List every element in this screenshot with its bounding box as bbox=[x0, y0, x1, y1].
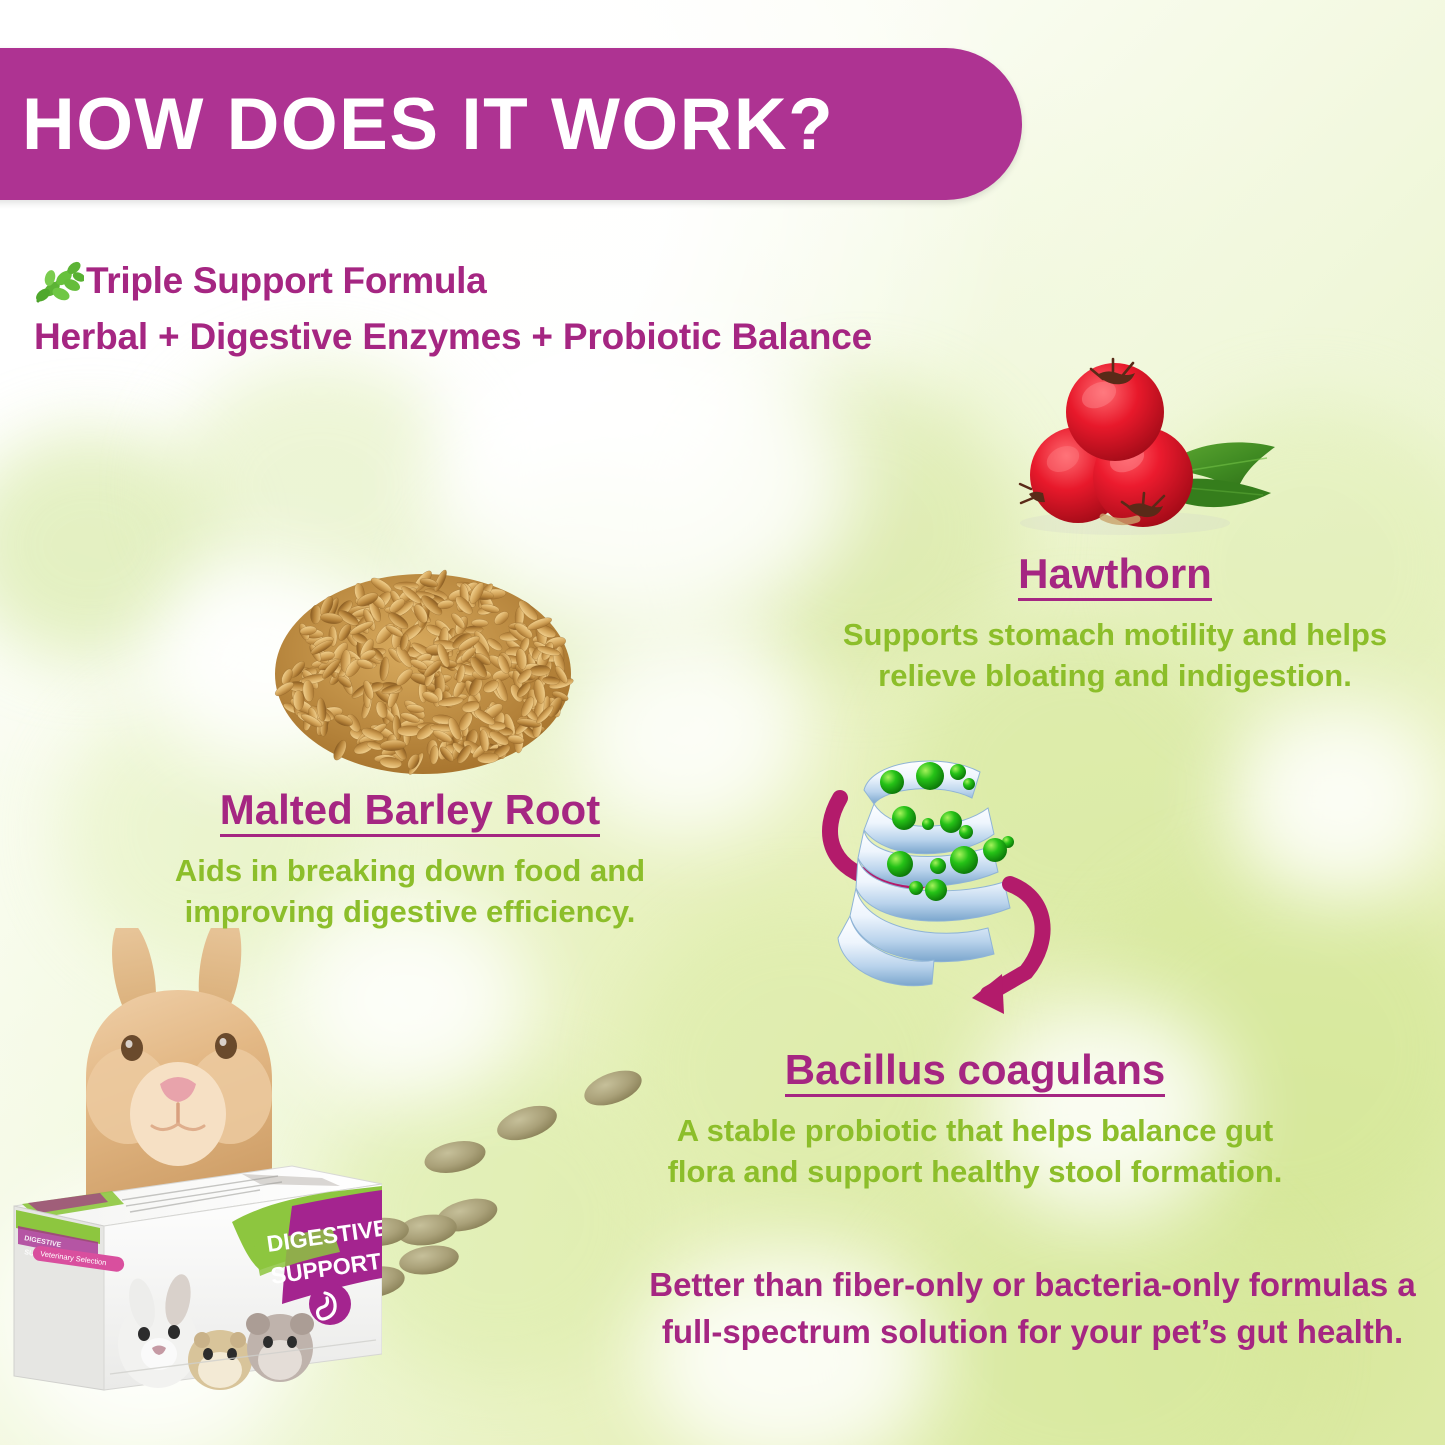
herb-sprig-icon bbox=[34, 258, 84, 304]
ingredient-title-bacillus-coagulans: Bacillus coagulans bbox=[785, 1048, 1165, 1097]
ingredient-bacillus-coagulans: Bacillus coagulans A stable probiotic th… bbox=[640, 1048, 1310, 1193]
ingredient-title-hawthorn: Hawthorn bbox=[1018, 552, 1212, 601]
subtitle-line-1: Triple Support Formula bbox=[86, 260, 486, 302]
summary-statement: Better than fiber-only or bacteria-only … bbox=[620, 1262, 1445, 1356]
bokeh-highlight bbox=[1230, 700, 1445, 900]
ingredient-title-malted-barley-root: Malted Barley Root bbox=[220, 788, 600, 837]
ingredient-desc-bacillus-coagulans: A stable probiotic that helps balance gu… bbox=[640, 1111, 1310, 1193]
ingredient-malted-barley-root: Malted Barley Root Aids in breaking down… bbox=[130, 788, 690, 933]
barley-grains-image bbox=[258, 548, 588, 783]
hawthorn-berries-image bbox=[975, 355, 1305, 540]
ingredient-desc-malted-barley-root: Aids in breaking down food and improving… bbox=[130, 851, 690, 933]
probiotic-spiral-image bbox=[812, 742, 1107, 1022]
ingredient-desc-hawthorn: Supports stomach motility and helps reli… bbox=[820, 615, 1410, 697]
subtitle-line-2: Herbal + Digestive Enzymes + Probiotic B… bbox=[34, 316, 872, 358]
header-banner: HOW DOES IT WORK? bbox=[0, 48, 1022, 200]
supplement-tablets bbox=[355, 1060, 655, 1320]
ingredient-hawthorn: Hawthorn Supports stomach motility and h… bbox=[820, 552, 1410, 697]
product-box: DIGESTIVE SUPPORT DIGESTIVE SUPPORT Vete… bbox=[0, 1148, 382, 1403]
subtitle-block: Triple Support Formula Herbal + Digestiv… bbox=[34, 258, 872, 358]
page-title: HOW DOES IT WORK? bbox=[0, 83, 834, 166]
stomach-icon bbox=[309, 1283, 351, 1325]
